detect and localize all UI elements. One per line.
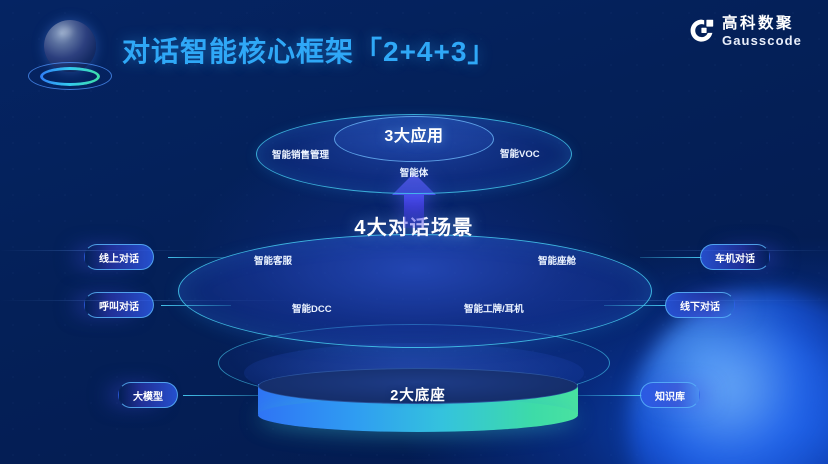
scenario-label-smart-service: 智能客服: [254, 253, 292, 267]
gausscode-g-mark-icon: [689, 18, 715, 44]
connector-line-call: [161, 305, 231, 306]
brand-text-block: 高科数聚 Gausscode: [722, 16, 802, 47]
page-title: 对话智能核心框架「2+4+3」: [122, 30, 496, 70]
pill-online-dialogue[interactable]: 线上对话: [84, 244, 154, 270]
pill-knowledge-base[interactable]: 知识库: [640, 382, 700, 408]
framework-diagram: 4大对话场景 智能客服 智能座舱 智能DCC 智能工牌/耳机 3大应用 智能销售…: [0, 96, 828, 464]
orb-glow-ring-shape: [40, 67, 100, 86]
connector-line-online: [168, 257, 224, 258]
brand-name-cn: 高科数聚: [722, 16, 802, 32]
connector-line-car: [640, 257, 702, 258]
tier-foundation-title: 2大底座: [258, 384, 578, 405]
brand-logo: 高科数聚 Gausscode: [689, 16, 802, 47]
scenario-label-smart-badge-headset: 智能工牌/耳机: [464, 301, 524, 315]
pill-vehicle-dialogue[interactable]: 车机对话: [700, 244, 770, 270]
connector-line-kb: [576, 395, 642, 396]
sphere-orb-icon: [28, 18, 110, 100]
pill-offline-dialogue[interactable]: 线下对话: [665, 292, 735, 318]
slide-canvas: 对话智能核心框架「2+4+3」 高科数聚 Gausscode 4大对话场景: [0, 0, 828, 464]
scenario-label-smart-dcc: 智能DCC: [292, 301, 332, 315]
pill-call-dialogue[interactable]: 呼叫对话: [84, 292, 154, 318]
connector-line-offline: [604, 305, 666, 306]
brand-name-en: Gausscode: [722, 34, 802, 47]
scenario-label-smart-cabin: 智能座舱: [538, 253, 576, 267]
application-label-sales-management: 智能销售管理: [272, 147, 329, 161]
arrow-label-agent: 智能体: [0, 165, 828, 179]
application-label-voc: 智能VOC: [500, 146, 540, 160]
tier-applications-title: 3大应用: [334, 122, 494, 146]
slide-header: 对话智能核心框架「2+4+3」 高科数聚 Gausscode: [0, 0, 828, 96]
pill-large-model[interactable]: 大模型: [118, 382, 178, 408]
tier-scenarios-ellipse[interactable]: [178, 234, 652, 348]
